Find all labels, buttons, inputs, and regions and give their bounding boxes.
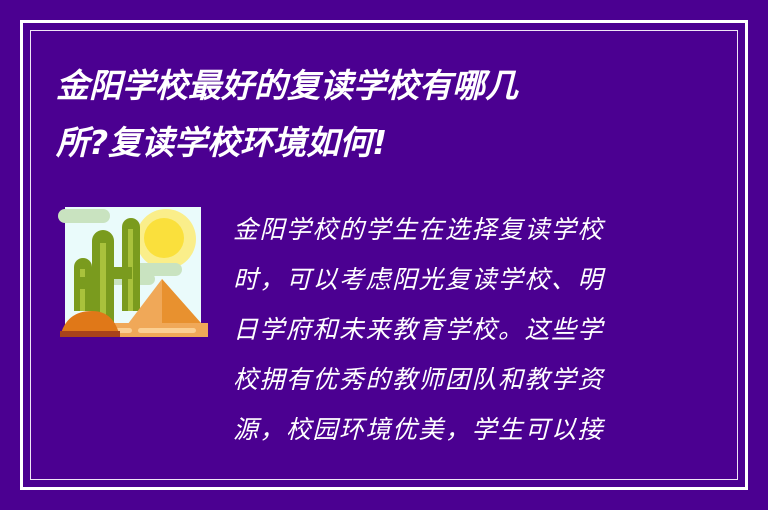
article-body-line-3: 日学府和未来教育学校。这些学 (233, 305, 653, 355)
article-body-line-5: 源，校园环境优美，学生可以接 (233, 405, 653, 455)
desert-cactus-scene-icon (58, 205, 208, 348)
article-body-line-4: 校拥有优秀的教师团队和教学资 (233, 355, 653, 405)
page-title-line-2: 所?复读学校环境如何! (56, 115, 656, 172)
poster-canvas: 金阳学校最好的复读学校有哪几 所?复读学校环境如何! (0, 0, 768, 510)
page-title-line-1: 金阳学校最好的复读学校有哪几 (56, 58, 656, 115)
page-title: 金阳学校最好的复读学校有哪几 所?复读学校环境如何! (56, 58, 656, 172)
article-body-line-1: 金阳学校的学生在选择复读学校 (233, 205, 653, 255)
article-body-line-2: 时，可以考虑阳光复读学校、明 (233, 255, 653, 305)
article-body: 金阳学校的学生在选择复读学校 时，可以考虑阳光复读学校、明 日学府和未来教育学校… (233, 205, 653, 467)
